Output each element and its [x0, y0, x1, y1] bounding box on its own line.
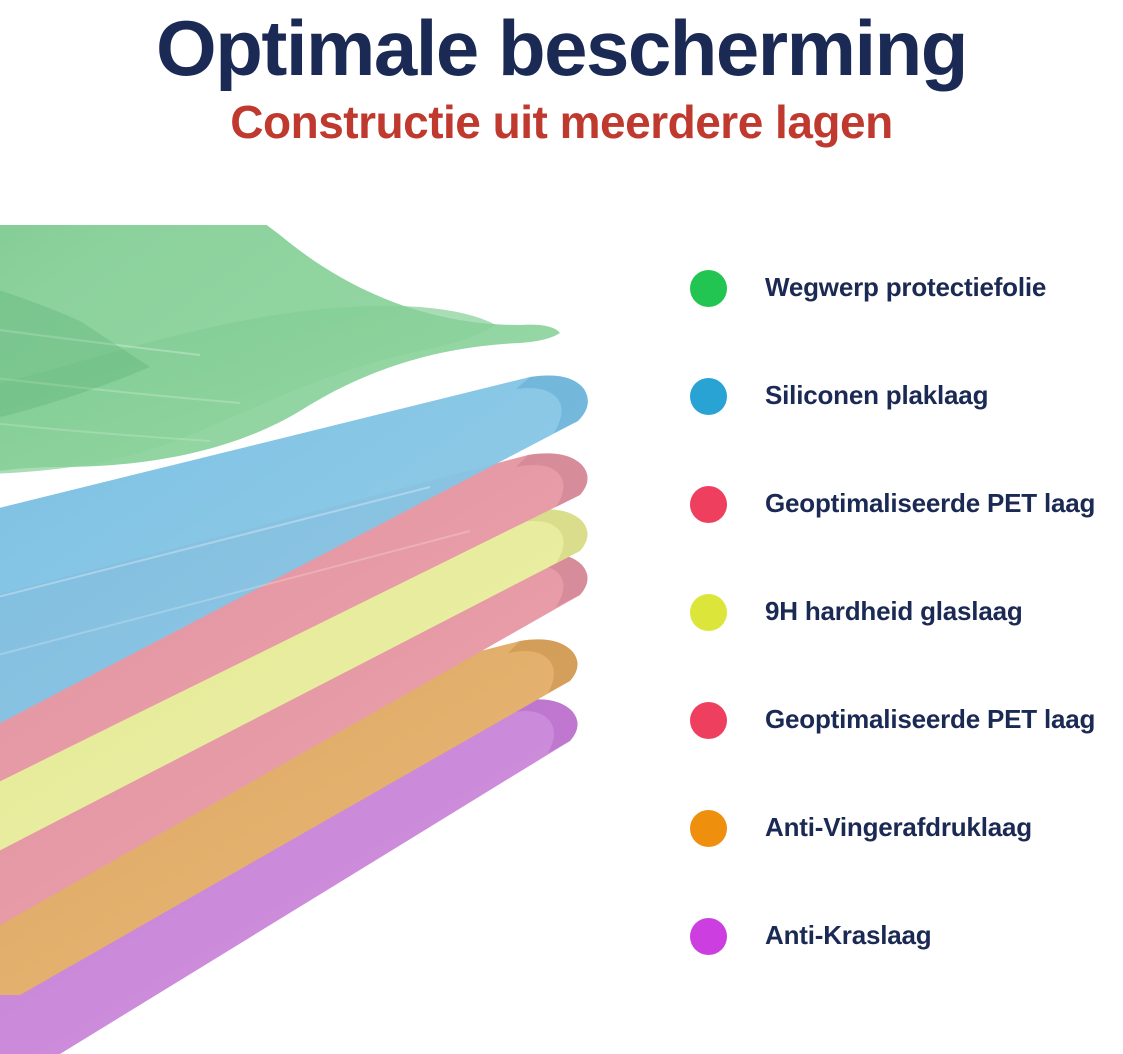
legend-item-geoptimaliseerde-pet-laag-1[interactable]: Geoptimaliseerde PET laag [690, 474, 1123, 582]
legend-item-label: Wegwerp protectiefolie [765, 269, 1046, 306]
dot-icon [690, 810, 727, 847]
page-title: Optimale bescherming [0, 4, 1123, 92]
legend-item-label: Geoptimaliseerde PET laag [765, 485, 1095, 522]
layer-legend: Wegwerp protectiefolie Siliconen plaklaa… [690, 258, 1123, 1014]
legend-item-anti-vingerafdruklaag[interactable]: Anti-Vingerafdruklaag [690, 798, 1123, 906]
legend-item-label: Anti-Kraslaag [765, 917, 931, 954]
dot-icon [690, 702, 727, 739]
dot-icon [690, 594, 727, 631]
legend-item-label: Siliconen plaklaag [765, 377, 988, 414]
legend-item-geoptimaliseerde-pet-laag-2[interactable]: Geoptimaliseerde PET laag [690, 690, 1123, 798]
legend-item-siliconen-plaklaag[interactable]: Siliconen plaklaag [690, 366, 1123, 474]
exploded-layer-stack-illustration [0, 225, 640, 1054]
legend-item-wegwerp-protectiefolie[interactable]: Wegwerp protectiefolie [690, 258, 1123, 366]
dot-icon [690, 486, 727, 523]
legend-item-label: Geoptimaliseerde PET laag [765, 701, 1095, 738]
legend-item-label: Anti-Vingerafdruklaag [765, 809, 1032, 846]
header: Optimale bescherming Constructie uit mee… [0, 0, 1123, 150]
legend-item-label: 9H hardheid glaslaag [765, 593, 1023, 630]
dot-icon [690, 918, 727, 955]
dot-icon [690, 270, 727, 307]
legend-item-9h-hardheid-glaslaag[interactable]: 9H hardheid glaslaag [690, 582, 1123, 690]
legend-item-anti-kraslaag[interactable]: Anti-Kraslaag [690, 906, 1123, 1014]
page-subtitle: Constructie uit meerdere lagen [0, 94, 1123, 150]
dot-icon [690, 378, 727, 415]
